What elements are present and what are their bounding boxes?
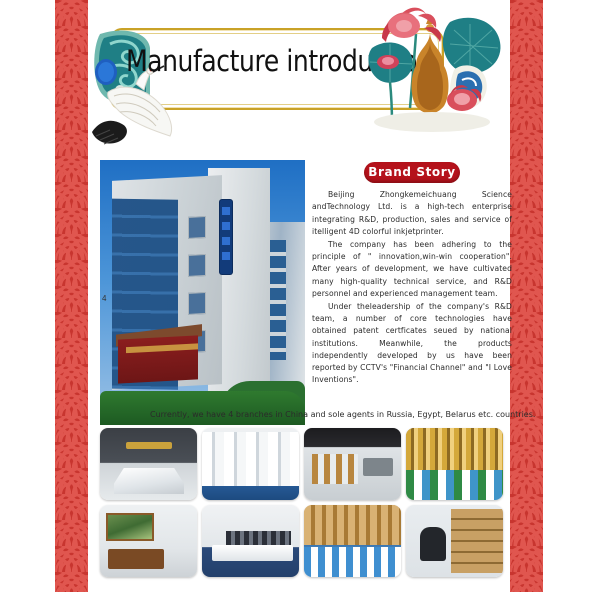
bottom-white-strip [0, 592, 600, 600]
story-paragraph-1: Beijing Zhongkemeichuang Science andTech… [312, 189, 512, 238]
lotus-and-vase-icon [358, 4, 506, 140]
header-banner: Manufacture introduction [88, 4, 506, 150]
photo-warehouse-gold-rolls [406, 428, 503, 500]
window [188, 216, 206, 239]
building-entrance [118, 335, 198, 383]
facility-photo-grid [100, 428, 505, 582]
photo-grid-row [100, 428, 505, 500]
right-decorative-border [510, 0, 543, 600]
photo-executive-office [100, 505, 197, 577]
headquarters-building-photo: 4 [100, 160, 305, 425]
photo-corner-number: 4 [102, 294, 106, 303]
photo-staff-at-shelves [406, 505, 503, 577]
photo-training-meeting [202, 505, 299, 577]
left-decorative-border [55, 0, 88, 600]
vertical-signboard [220, 200, 232, 274]
story-paragraph-3: Under theleadership of the company's R&D… [312, 301, 512, 387]
photo-showroom-machines [202, 428, 299, 500]
story-paragraph-2: The company has been adhering to the pri… [312, 239, 512, 300]
photo-reception-lobby [100, 428, 197, 500]
photo-workshop [304, 428, 401, 500]
window [188, 254, 206, 277]
brand-story-badge: Brand Story [364, 162, 460, 183]
photo-grid-row [100, 505, 505, 577]
entrance-banner [126, 343, 198, 353]
poster-page: Manufacture introduction [0, 0, 600, 600]
building-main-tower [112, 175, 222, 390]
window [188, 292, 206, 315]
brand-story-block: Brand Story Beijing Zhongkemeichuang Sci… [312, 162, 512, 387]
photo-storage-wood-racks [304, 505, 401, 577]
branches-caption: Currently, we have 4 branches in China a… [150, 409, 530, 421]
